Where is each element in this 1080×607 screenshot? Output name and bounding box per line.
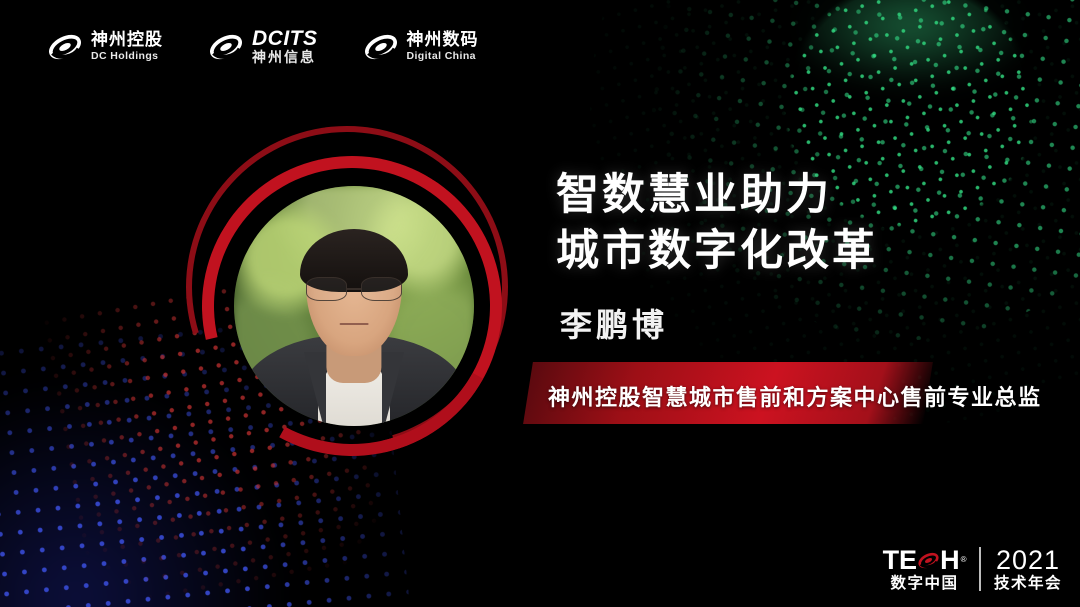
event-logo-brand: TE H ® 数字中国: [883, 547, 967, 592]
event-brand-cn: 数字中国: [891, 576, 959, 592]
event-logo: TE H ® 数字中国 2021 技术年会: [883, 547, 1062, 592]
dc-swoosh-icon: [209, 34, 243, 60]
logo-digital-china: 神州数码 Digital China: [364, 32, 479, 62]
photo-lapel-left: [304, 352, 326, 426]
dc-swoosh-icon: [918, 552, 939, 569]
logo-en-name: DC Holdings: [91, 51, 163, 62]
photo-lens-left: [306, 277, 347, 301]
tech-wordmark-right: H: [940, 547, 960, 574]
speaker-portrait-block: [186, 126, 516, 471]
logo-cn-name: 神州控股: [91, 32, 163, 49]
event-year: 2021: [996, 547, 1060, 574]
logo-en-name: 神州信息: [252, 51, 318, 65]
logo-dc-holdings: 神州控股 DC Holdings: [48, 32, 163, 62]
logo-en-name: Digital China: [407, 51, 479, 62]
tech-wordmark-left: TE: [883, 547, 918, 574]
logo-text-group: 神州数码 Digital China: [407, 32, 479, 62]
speaker-role-text: 神州控股智慧城市售前和方案中心售前专业总监: [548, 380, 1042, 412]
trademark-icon: ®: [961, 556, 967, 564]
eyeglasses-icon: [306, 277, 402, 301]
logo-cn-name: DCITS: [252, 28, 318, 49]
presentation-slide: 神州控股 DC Holdings DCITS 神州信息 神州数码: [0, 0, 1080, 607]
photo-glasses-bridge: [347, 288, 360, 290]
event-logo-divider: [979, 547, 981, 591]
logo-bar: 神州控股 DC Holdings DCITS 神州信息 神州数码: [48, 28, 479, 66]
dc-swoosh-icon: [48, 34, 82, 60]
tech-wordmark: TE H ®: [883, 547, 967, 574]
event-edition-cn: 技术年会: [994, 576, 1062, 592]
event-logo-edition: 2021 技术年会: [994, 547, 1062, 592]
photo-mouth: [340, 323, 369, 326]
logo-dcits: DCITS 神州信息: [209, 28, 318, 66]
title-block: 智数慧业助力 城市数字化改革: [556, 168, 1036, 280]
logo-cn-name: 神州数码: [407, 32, 479, 49]
speaker-photo: [234, 186, 474, 426]
logo-text-group: DCITS 神州信息: [252, 28, 318, 66]
dc-swoosh-icon: [364, 34, 398, 60]
green-glow-streak: [780, 0, 1040, 90]
speaker-name: 李鹏博: [560, 300, 668, 346]
slide-title: 智数慧业助力 城市数字化改革: [556, 168, 1036, 280]
logo-text-group: 神州控股 DC Holdings: [91, 32, 163, 62]
photo-lapel-right: [382, 352, 404, 426]
photo-lens-right: [361, 277, 402, 301]
